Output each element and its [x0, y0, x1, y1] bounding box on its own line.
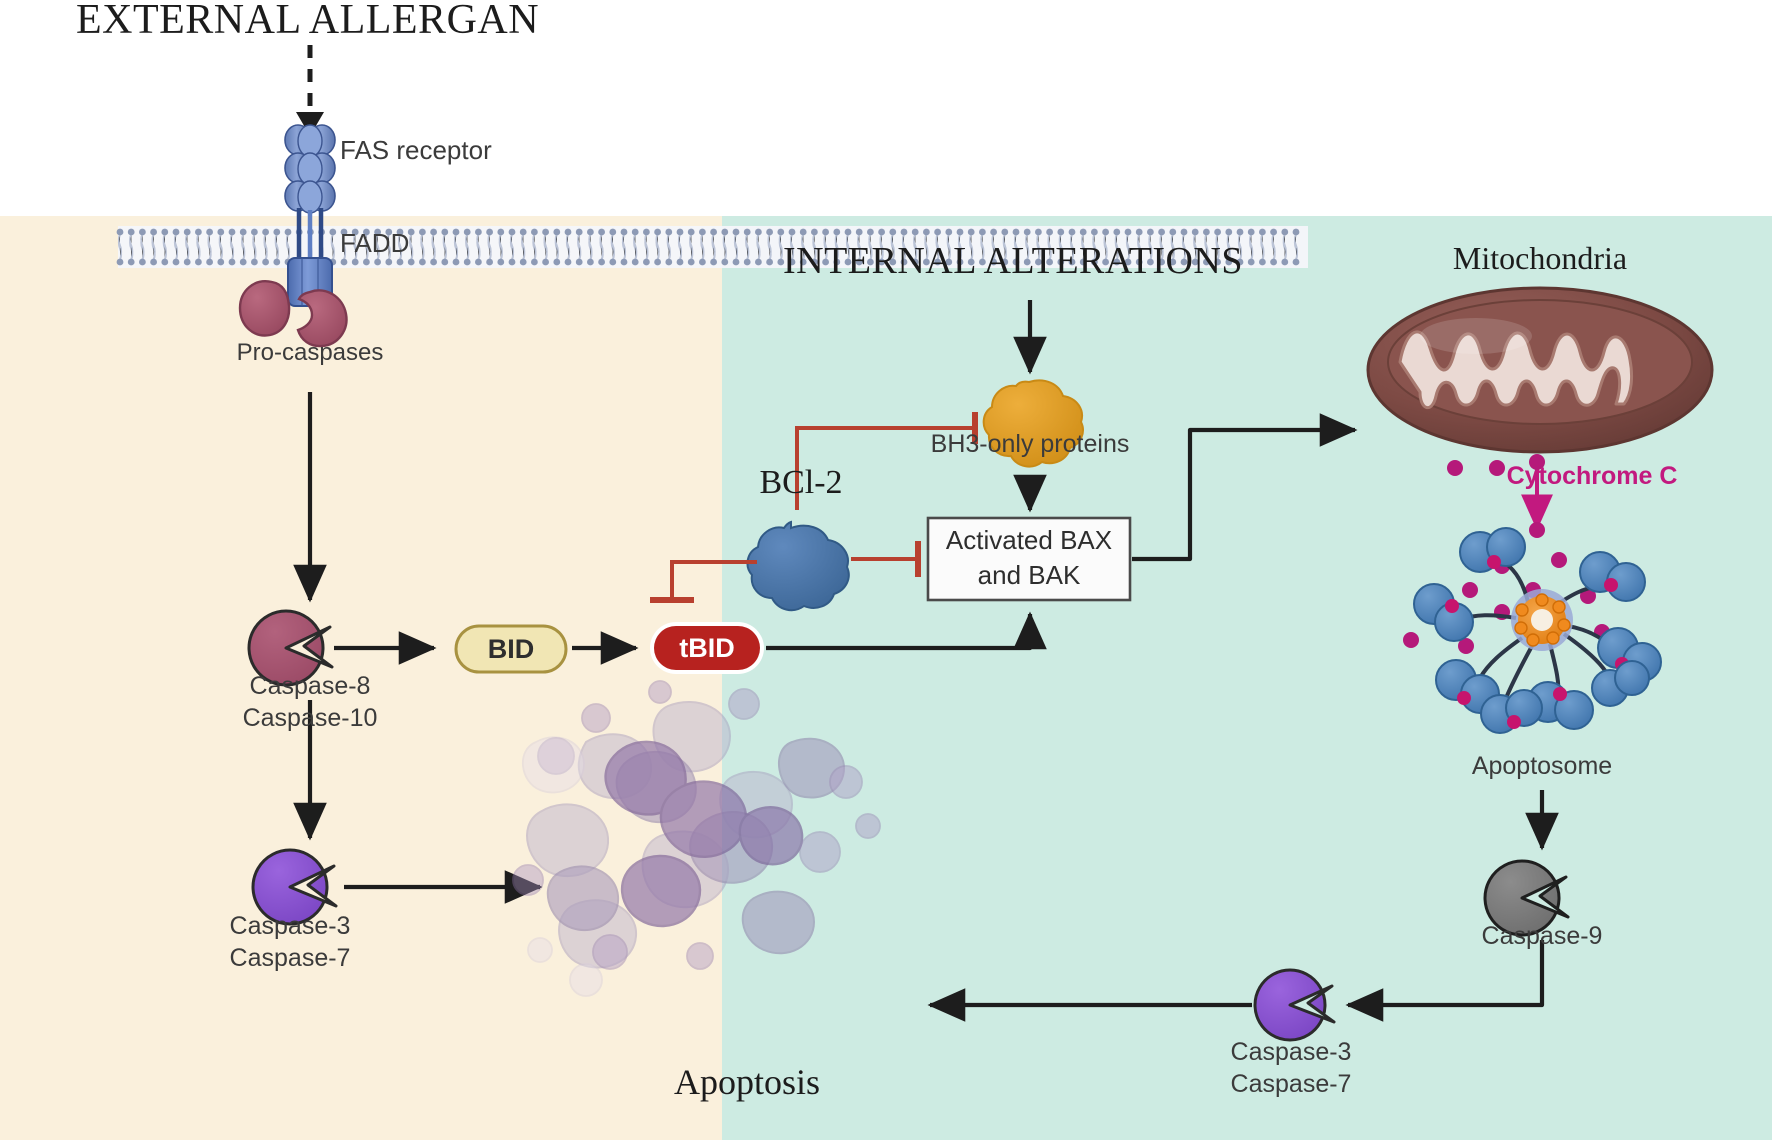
tbid-label: tBID: [679, 633, 735, 665]
activated-bak-label-line2: and BAK: [978, 560, 1081, 591]
fadd-label: FADD: [340, 228, 409, 259]
mitochondria-icon: [1368, 288, 1712, 452]
caspase-8-label-line1: Caspase-8: [250, 672, 371, 702]
caspase-9-label: Caspase-9: [1482, 922, 1603, 952]
mitochondria-label: Mitochondria: [1453, 240, 1627, 277]
bid-label: BID: [488, 634, 535, 666]
caspase-7-left-label-line2: Caspase-7: [230, 944, 351, 974]
apoptosome-label: Apoptosome: [1472, 752, 1612, 782]
bh3-only-proteins-label: BH3-only proteins: [931, 430, 1130, 460]
apoptosis-pathway-diagram: EXTERNAL ALLERGAN INTERNAL ALTERATIONS F…: [0, 0, 1772, 1140]
pro-caspases-label: Pro-caspases: [237, 339, 384, 367]
caspase-3-right-label-line1: Caspase-3: [1231, 1038, 1352, 1068]
fas-receptor-label: FAS receptor: [340, 135, 492, 166]
activated-bax-label-line1: Activated BAX: [946, 525, 1112, 556]
apoptosis-label: Apoptosis: [674, 1062, 820, 1103]
page-title-internal: INTERNAL ALTERATIONS: [783, 240, 1243, 284]
caspase-3-left-label-line1: Caspase-3: [230, 912, 351, 942]
caspase-7-right-label-line2: Caspase-7: [1231, 1070, 1352, 1100]
bcl-2-label: BCl-2: [759, 463, 842, 502]
cytochrome-c-label: Cytochrome C: [1507, 462, 1678, 492]
caspase-10-label-line2: Caspase-10: [243, 704, 378, 734]
page-title-external: EXTERNAL ALLERGAN: [76, 0, 539, 44]
